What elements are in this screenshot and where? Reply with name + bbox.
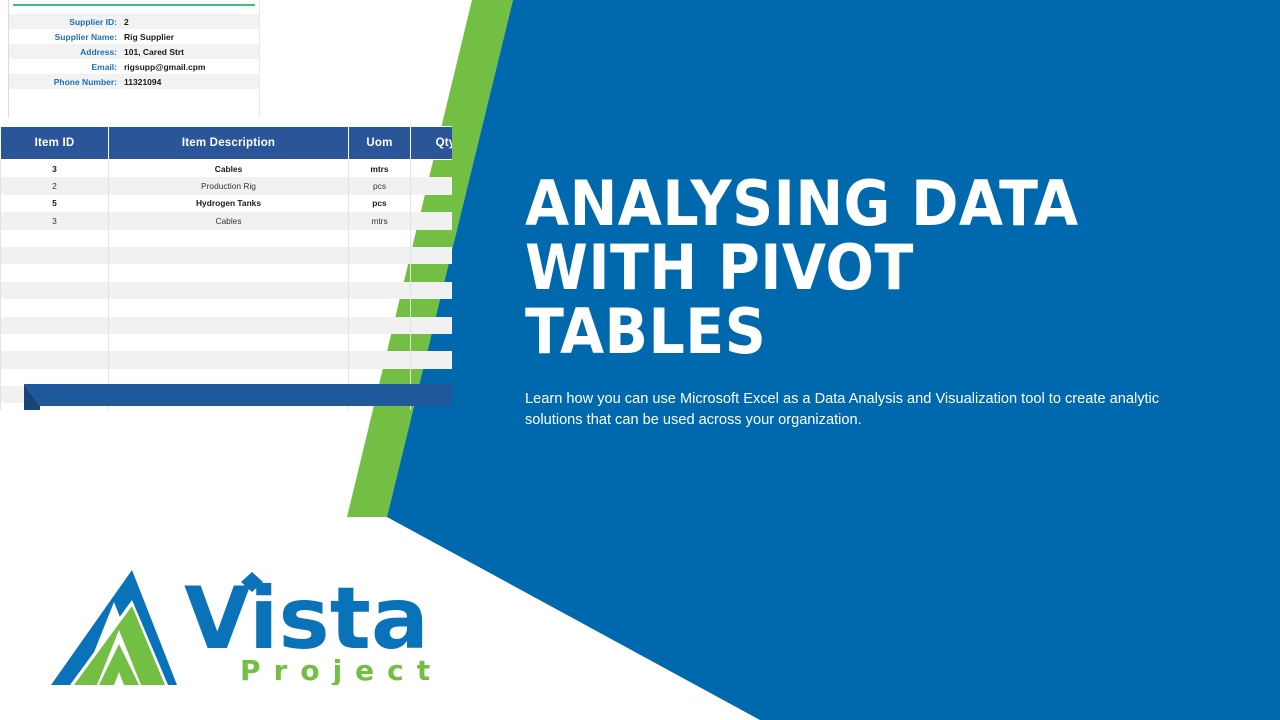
cell-item-description: Production Rig [109, 177, 349, 194]
supplier-field-row: Phone Number: 11321094 [9, 74, 259, 89]
supplier-name-label: Supplier Name: [9, 32, 124, 42]
supplier-field-row: Email: rigsupp@gmail.cpm [9, 59, 259, 74]
table-row [1, 230, 453, 247]
logo-wordmark-projects: Projects [240, 654, 434, 685]
cell-uom: pcs [349, 177, 411, 194]
table-row [1, 351, 453, 368]
supplier-details-card: Supplier ID: 2 Supplier Name: Rig Suppli… [8, 0, 260, 117]
table-row [1, 264, 453, 281]
cell-qty [411, 160, 453, 178]
supplier-phone-value: 11321094 [124, 77, 161, 87]
cell-qty [411, 177, 453, 194]
table-row [1, 282, 453, 299]
supplier-phone-label: Phone Number: [9, 77, 124, 87]
cell-item-id: 5 [1, 195, 109, 212]
supplier-id-label: Supplier ID: [9, 17, 124, 27]
cell-uom: mtrs [349, 212, 411, 229]
page-subtitle: Learn how you can use Microsoft Excel as… [525, 389, 1220, 431]
supplier-address-value: 101, Cared Strt [124, 47, 184, 57]
supplier-spacer-row [9, 89, 259, 103]
table-row: 3 Cables mtrs [1, 160, 453, 178]
table-row: 5 Hydrogen Tanks pcs [1, 195, 453, 212]
slide-canvas: Supplier ID: 2 Supplier Name: Rig Suppli… [0, 0, 1280, 720]
table-row: 2 Production Rig pcs [1, 177, 453, 194]
supplier-address-label: Address: [9, 47, 124, 57]
column-header-qty[interactable]: Qty [411, 127, 453, 160]
page-title: Analysing Data With Pivot Tables [525, 172, 1160, 364]
supplier-field-list: Supplier ID: 2 Supplier Name: Rig Suppli… [9, 6, 259, 117]
logo-mountain-icon [51, 570, 177, 685]
supplier-email-value: rigsupp@gmail.cpm [124, 62, 206, 72]
supplier-name-value: Rig Supplier [124, 32, 174, 42]
vista-projects-logo[interactable]: Vista Projects [44, 560, 434, 685]
cell-item-description: Hydrogen Tanks [109, 195, 349, 212]
table-header-row: Item ID Item Description Uom Qty [1, 127, 453, 160]
cell-item-description: Cables [109, 212, 349, 229]
cell-item-description: Cables [109, 160, 349, 178]
item-table: Item ID Item Description Uom Qty 3 Cable… [0, 126, 452, 410]
item-table-body: 3 Cables mtrs 2 Production Rig pcs 5 Hyd… [1, 160, 453, 411]
supplier-id-value: 2 [124, 17, 129, 27]
column-header-uom[interactable]: Uom [349, 127, 411, 160]
spreadsheet-mock: Supplier ID: 2 Supplier Name: Rig Suppli… [0, 0, 452, 410]
table-row [1, 299, 453, 316]
table-row [1, 317, 453, 334]
supplier-field-row: Address: 101, Cared Strt [9, 44, 259, 59]
column-header-item-id[interactable]: Item ID [1, 127, 109, 160]
table-row [1, 247, 453, 264]
column-header-item-description[interactable]: Item Description [109, 127, 349, 160]
supplier-field-row: Supplier Name: Rig Supplier [9, 29, 259, 44]
cell-uom: pcs [349, 195, 411, 212]
cell-item-id: 2 [1, 177, 109, 194]
table-row [1, 334, 453, 351]
sheet-footer-bar [0, 384, 452, 410]
cell-uom: mtrs [349, 160, 411, 178]
table-row: 3 Cables mtrs [1, 212, 453, 229]
cell-qty [411, 212, 453, 229]
supplier-field-row: Supplier ID: 2 [9, 14, 259, 29]
supplier-email-label: Email: [9, 62, 124, 72]
cell-item-id: 3 [1, 160, 109, 178]
cell-item-id: 3 [1, 212, 109, 229]
cell-qty [411, 195, 453, 212]
